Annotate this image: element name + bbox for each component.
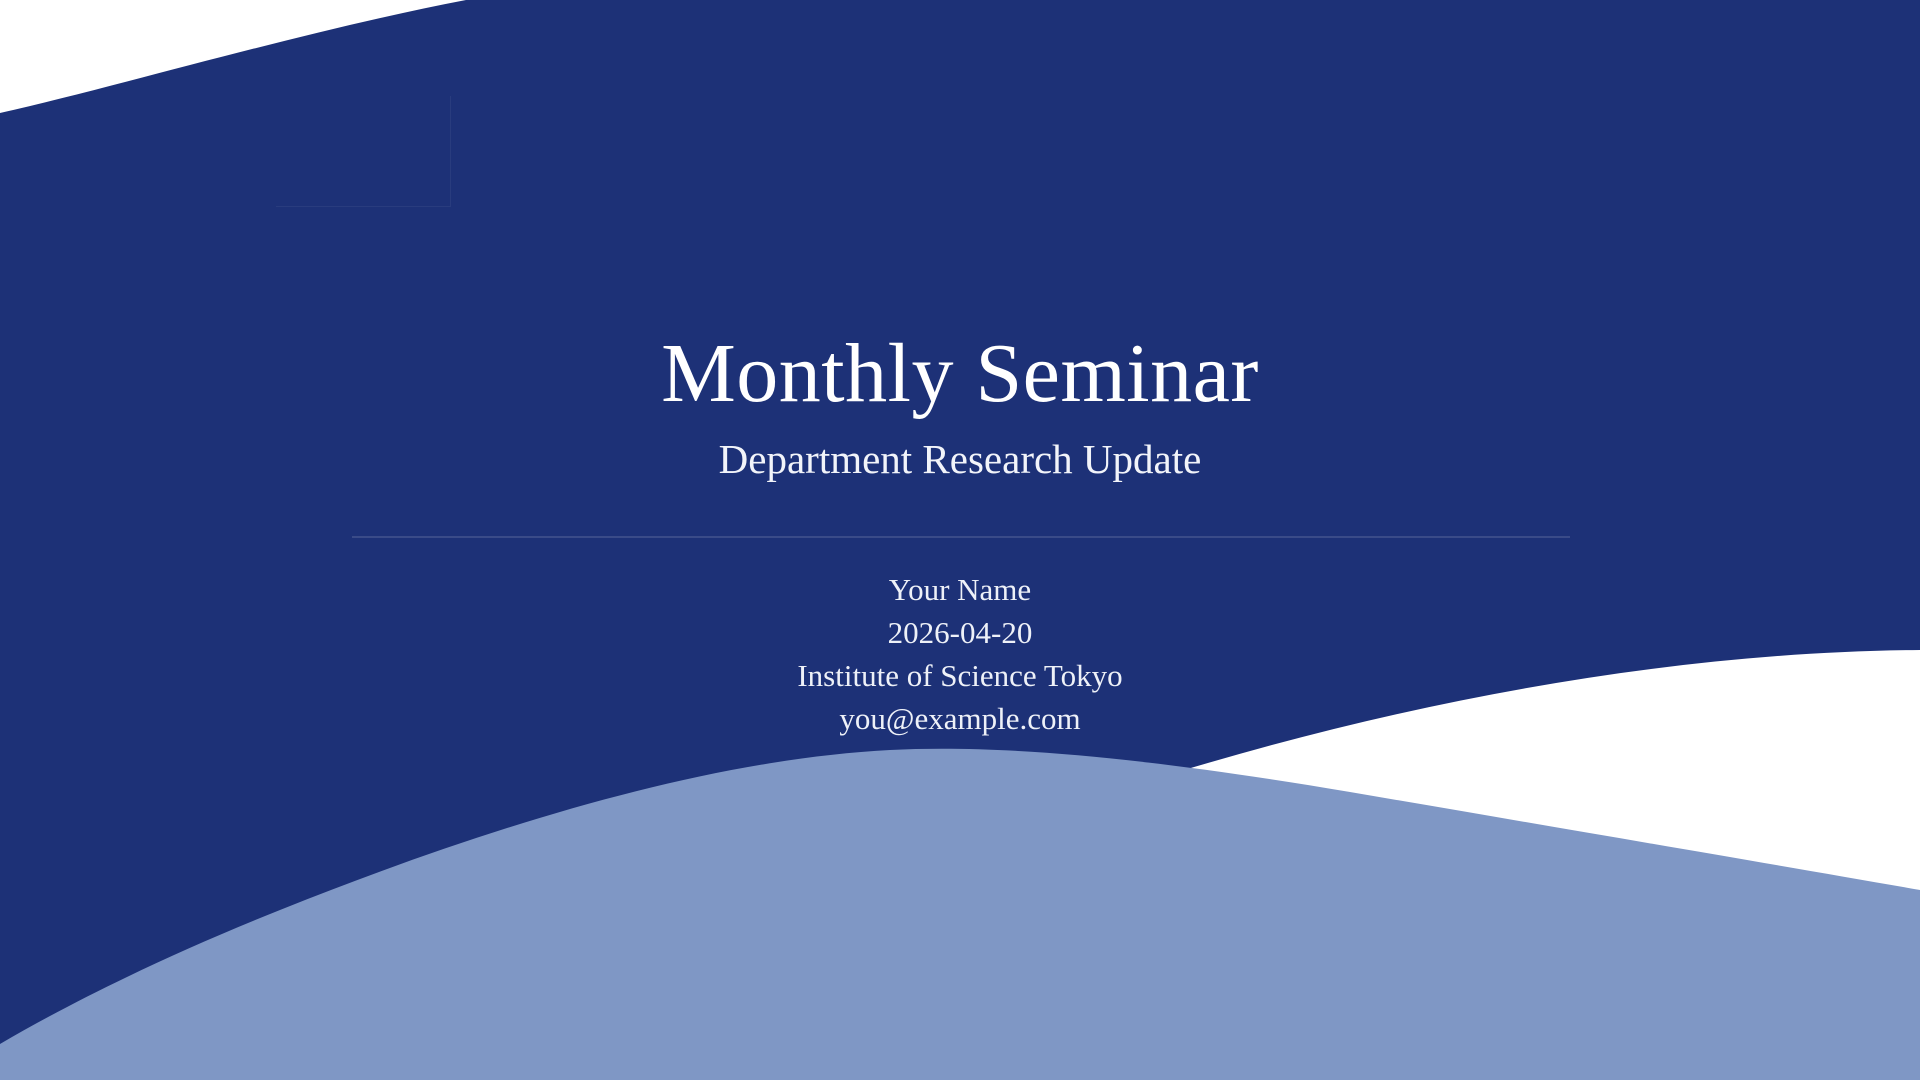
title-slide: Monthly Seminar Department Research Upda… [0, 0, 1920, 1080]
affiliation: Institute of Science Tokyo [0, 654, 1920, 697]
title-block: Monthly Seminar Department Research Upda… [0, 330, 1920, 485]
presentation-date: 2026-04-20 [0, 611, 1920, 654]
page-title: Monthly Seminar [0, 330, 1920, 417]
page-subtitle: Department Research Update [0, 417, 1920, 484]
presenter-name: Your Name [0, 568, 1920, 611]
title-divider-rule [352, 536, 1570, 538]
slide-content: Monthly Seminar Department Research Upda… [0, 0, 1920, 1080]
contact-email: you@example.com [0, 697, 1920, 740]
presenter-meta-block: Your Name 2026-04-20 Institute of Scienc… [0, 568, 1920, 740]
